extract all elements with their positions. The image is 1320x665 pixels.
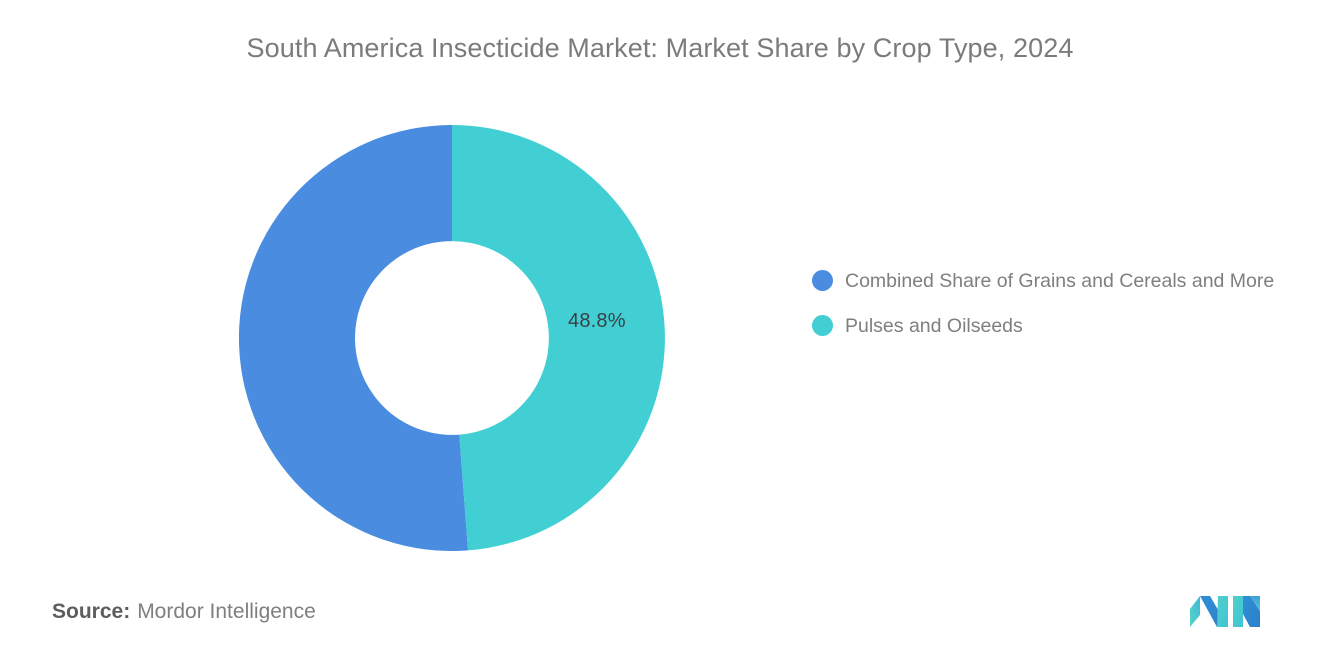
legend-item-combined-share-of-grains-and-cereals-and-more[interactable]: Combined Share of Grains and Cereals and…: [812, 268, 1292, 295]
source-attribution: Source:Mordor Intelligence: [52, 597, 316, 627]
donut-slice-combined-share-of-grains-and-cereals-and-more[interactable]: [239, 125, 468, 551]
donut-chart-svg: [239, 125, 665, 551]
source-label: Source:: [52, 600, 130, 623]
chart-footer: Source:Mordor Intelligence: [0, 585, 1320, 665]
chart-legend: Combined Share of Grains and Cereals and…: [812, 268, 1292, 358]
legend-item-label: Pulses and Oilseeds: [845, 313, 1023, 340]
chart-plot-area: 48.8% Combined Share of Grains and Cerea…: [0, 96, 1320, 586]
legend-item-label: Combined Share of Grains and Cereals and…: [845, 268, 1274, 295]
donut-slice-value-label-pulses-and-oilseeds: 48.8%: [568, 310, 626, 333]
source-value: Mordor Intelligence: [137, 600, 316, 623]
page-title: South America Insecticide Market: Market…: [0, 28, 1320, 68]
mordor-intelligence-logo-icon: [1188, 591, 1262, 631]
legend-swatch-circle-icon: [812, 270, 833, 291]
donut-slice-pulses-and-oilseeds[interactable]: [452, 125, 665, 550]
legend-swatch-circle-icon: [812, 315, 833, 336]
mi-logo-svg: [1188, 591, 1262, 631]
donut-chart: [239, 125, 665, 551]
legend-item-pulses-and-oilseeds[interactable]: Pulses and Oilseeds: [812, 313, 1292, 340]
